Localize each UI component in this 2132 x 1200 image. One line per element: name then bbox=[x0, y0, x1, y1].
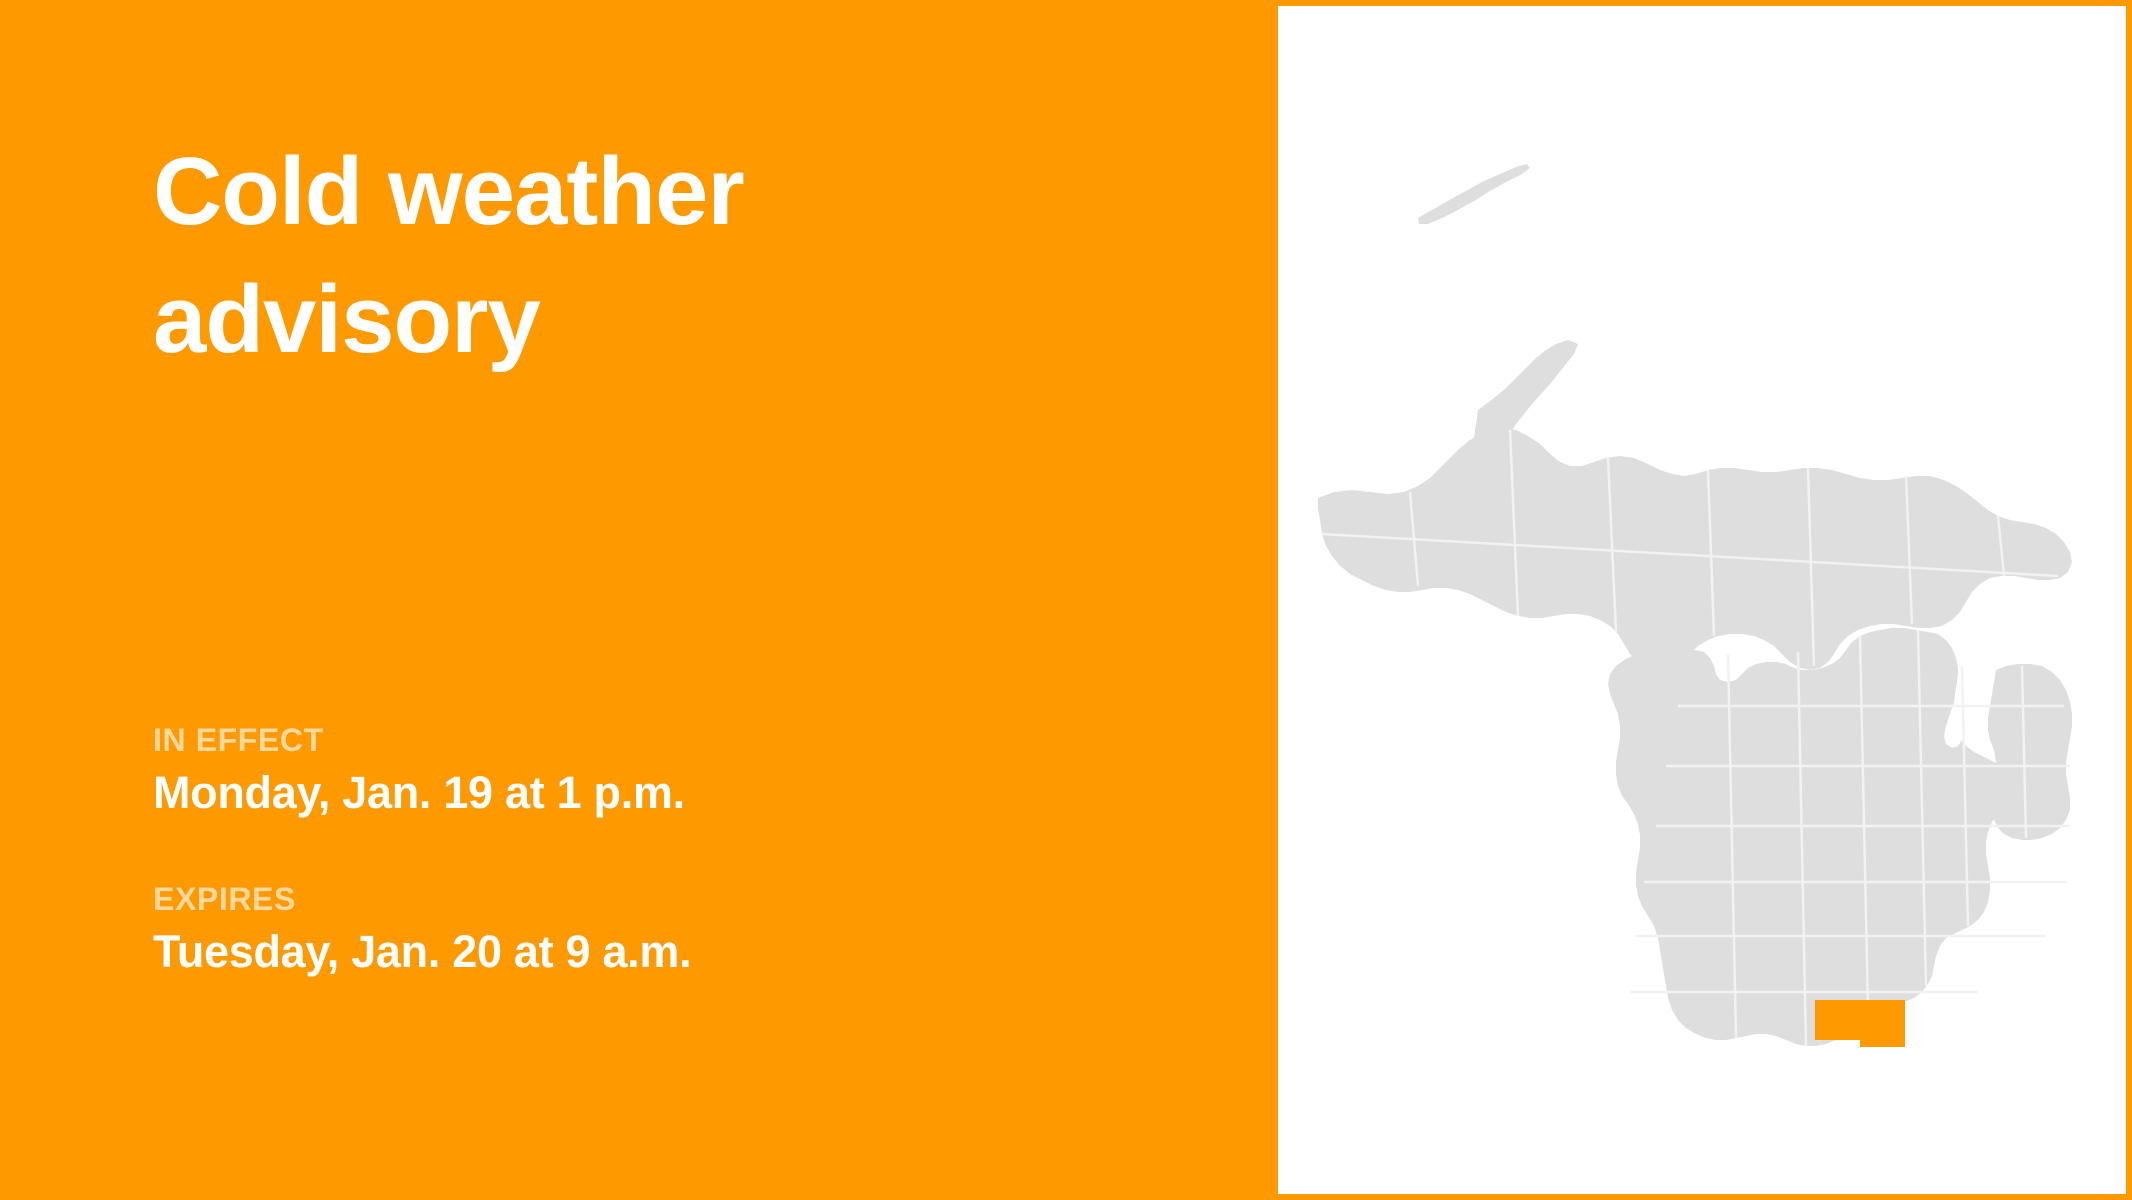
isle-royale-shape bbox=[1418, 164, 1530, 224]
frame-border-top bbox=[0, 0, 2132, 6]
map-canvas bbox=[1278, 6, 2126, 1194]
highlighted-counties-group bbox=[1815, 1000, 1905, 1047]
expires-group: EXPIRES Tuesday, Jan. 20 at 9 a.m. bbox=[153, 881, 1173, 978]
alert-title: Cold weather advisory bbox=[153, 128, 1153, 383]
alert-timing-block: IN EFFECT Monday, Jan. 19 at 1 p.m. EXPI… bbox=[153, 722, 1173, 978]
frame-border-bottom bbox=[0, 1194, 2132, 1200]
lower-peninsula-shape bbox=[1608, 628, 2072, 1046]
weather-alert-card: Cold weather advisory IN EFFECT Monday, … bbox=[0, 0, 2132, 1200]
upper-peninsula-shape bbox=[1318, 340, 2072, 670]
county-highlight-west bbox=[1815, 1000, 1860, 1040]
frame-border-left bbox=[0, 0, 6, 1200]
in-effect-label: IN EFFECT bbox=[153, 722, 1173, 760]
frame-border-right bbox=[2126, 0, 2132, 1200]
michigan-state-map bbox=[1278, 6, 2126, 1106]
expires-value: Tuesday, Jan. 20 at 9 a.m. bbox=[153, 925, 1173, 978]
alert-map-panel bbox=[1278, 0, 2132, 1200]
alert-info-panel: Cold weather advisory IN EFFECT Monday, … bbox=[0, 0, 1278, 1200]
county-highlight-east bbox=[1860, 1000, 1905, 1047]
in-effect-value: Monday, Jan. 19 at 1 p.m. bbox=[153, 766, 1173, 819]
in-effect-group: IN EFFECT Monday, Jan. 19 at 1 p.m. bbox=[153, 722, 1173, 819]
expires-label: EXPIRES bbox=[153, 881, 1173, 919]
